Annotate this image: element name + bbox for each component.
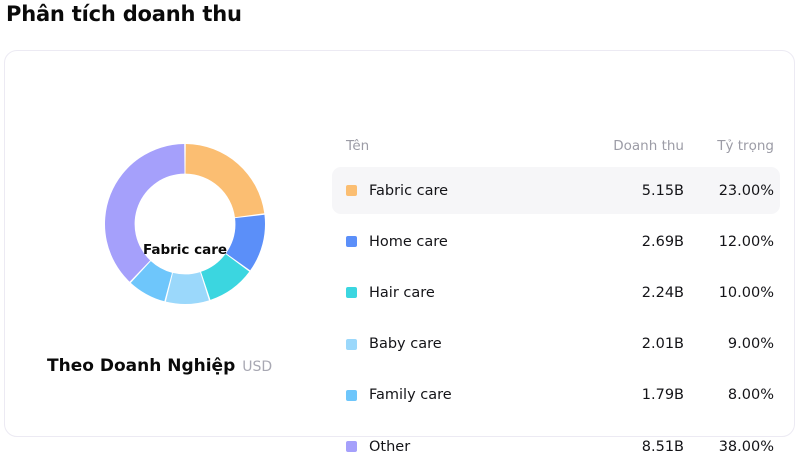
series-color-swatch-icon — [346, 441, 357, 452]
cell-name: Home care — [332, 234, 584, 250]
table-row[interactable]: Other8.51B38.00% — [332, 423, 780, 470]
cell-share: 38.00% — [684, 439, 774, 455]
table-row[interactable]: Family care1.79B8.00% — [332, 372, 780, 419]
donut-slice[interactable] — [105, 144, 185, 282]
cell-revenue: 5.15B — [584, 183, 684, 199]
cell-revenue: 2.01B — [584, 336, 684, 352]
cell-share: 12.00% — [684, 234, 774, 250]
series-color-swatch-icon — [346, 339, 357, 350]
revenue-analysis-card: Fabric care Theo Doanh Nghiệp USD Tên Do… — [4, 50, 795, 437]
cell-name: Other — [332, 439, 584, 455]
table-row[interactable]: Home care2.69B12.00% — [332, 218, 780, 265]
column-header-revenue: Doanh thu — [584, 138, 684, 154]
cell-revenue: 2.69B — [584, 234, 684, 250]
cell-name: Hair care — [332, 285, 584, 301]
chart-footer-title: Theo Doanh Nghiệp — [47, 356, 235, 376]
series-color-swatch-icon — [346, 287, 357, 298]
breakdown-table: Tên Doanh thu Tỷ trọng Fabric care5.15B2… — [328, 51, 788, 438]
series-color-swatch-icon — [346, 185, 357, 196]
series-name-label: Baby care — [369, 336, 442, 352]
page-title: Phân tích doanh thu — [6, 2, 242, 26]
cell-name: Fabric care — [332, 183, 584, 199]
cell-share: 8.00% — [684, 387, 774, 403]
series-name-label: Hair care — [369, 285, 435, 301]
cell-revenue: 8.51B — [584, 439, 684, 455]
series-color-swatch-icon — [346, 390, 357, 401]
cell-revenue: 1.79B — [584, 387, 684, 403]
donut-slice[interactable] — [185, 144, 264, 217]
table-row[interactable]: Hair care2.24B10.00% — [332, 269, 780, 316]
chart-footer: Theo Doanh Nghiệp USD — [47, 356, 272, 376]
cell-share: 9.00% — [684, 336, 774, 352]
series-color-swatch-icon — [346, 236, 357, 247]
chart-footer-unit: USD — [242, 359, 272, 375]
cell-share: 23.00% — [684, 183, 774, 199]
donut-chart[interactable] — [100, 139, 270, 309]
donut-slice[interactable] — [166, 272, 209, 304]
series-name-label: Fabric care — [369, 183, 448, 199]
series-name-label: Family care — [369, 387, 452, 403]
donut-chart-area: Fabric care Theo Doanh Nghiệp USD — [5, 51, 335, 438]
cell-share: 10.00% — [684, 285, 774, 301]
series-name-label: Other — [369, 439, 410, 455]
table-row[interactable]: Baby care2.01B9.00% — [332, 321, 780, 368]
series-name-label: Home care — [369, 234, 448, 250]
cell-name: Family care — [332, 387, 584, 403]
donut-chart-svg — [100, 139, 270, 309]
cell-revenue: 2.24B — [584, 285, 684, 301]
column-header-name: Tên — [332, 138, 584, 154]
cell-name: Baby care — [332, 336, 584, 352]
table-row[interactable]: Fabric care5.15B23.00% — [332, 167, 780, 214]
column-header-share: Tỷ trọng — [684, 138, 774, 154]
table-header-row: Tên Doanh thu Tỷ trọng — [332, 133, 780, 159]
